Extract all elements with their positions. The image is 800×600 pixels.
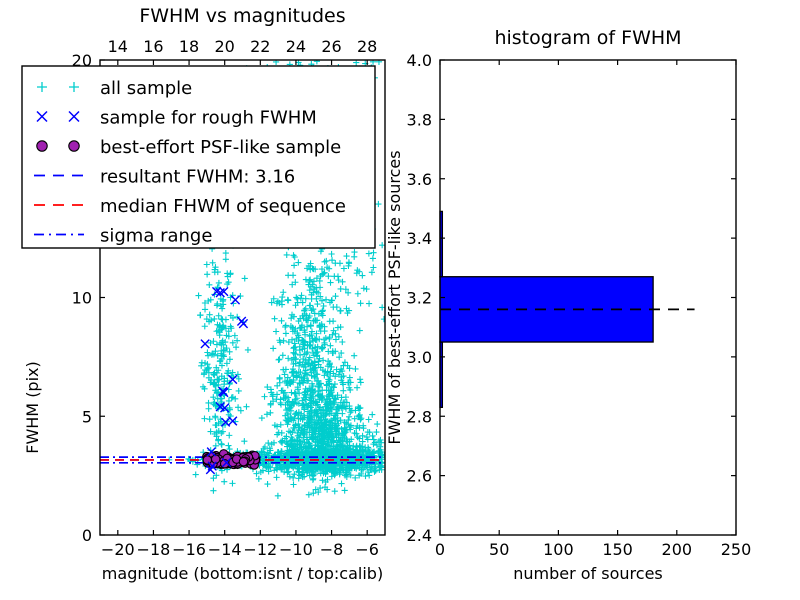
- marker-plus-icon: [285, 297, 291, 303]
- marker-plus-icon: [366, 301, 372, 307]
- marker-plus-icon: [351, 254, 357, 260]
- marker-plus-icon: [226, 398, 232, 404]
- marker-plus-icon: [221, 479, 227, 485]
- marker-plus-icon: [214, 302, 220, 308]
- scatter-ylabel: FWHM (pix): [23, 361, 42, 454]
- marker-plus-icon: [299, 398, 305, 404]
- marker-plus-icon: [357, 300, 363, 306]
- matplotlib-figure: −20−18−16−14−12−10−8−6141618202224262805…: [0, 0, 800, 600]
- marker-plus-icon: [340, 388, 346, 394]
- xtick-label: −18: [137, 540, 171, 559]
- top-xtick-label: 20: [215, 37, 235, 56]
- marker-plus-icon: [225, 442, 231, 448]
- legend-item-label: resultant FWHM: 3.16: [100, 167, 295, 188]
- marker-plus-icon: [346, 414, 352, 420]
- marker-plus-icon: [271, 316, 277, 322]
- xtick-label: −10: [279, 540, 313, 559]
- marker-plus-icon: [295, 259, 301, 265]
- hist-xtick-label: 150: [602, 540, 633, 559]
- marker-plus-icon: [284, 252, 290, 258]
- marker-plus-icon: [296, 475, 302, 481]
- marker-plus-icon: [238, 408, 244, 414]
- marker-plus-icon: [281, 338, 287, 344]
- marker-plus-icon: [219, 442, 225, 448]
- marker-plus-icon: [276, 376, 282, 382]
- ytick-label: 0: [82, 526, 92, 545]
- marker-plus-icon: [375, 201, 381, 207]
- marker-plus-icon: [328, 251, 334, 257]
- marker-plus-icon: [245, 347, 251, 353]
- marker-plus-icon: [205, 366, 211, 372]
- marker-plus-icon: [329, 257, 335, 263]
- marker-plus-icon: [357, 376, 363, 382]
- marker-plus-icon: [276, 356, 282, 362]
- top-xtick-label: 24: [286, 37, 306, 56]
- marker-plus-icon: [210, 260, 216, 266]
- marker-plus-icon: [282, 371, 288, 377]
- marker-plus-icon: [352, 366, 358, 372]
- marker-plus-icon: [243, 404, 249, 410]
- histogram-title: histogram of FWHM: [494, 27, 681, 49]
- marker-plus-icon: [204, 261, 210, 267]
- top-xtick-label: 26: [321, 37, 341, 56]
- marker-plus-icon: [323, 297, 329, 303]
- marker-plus-icon: [274, 474, 280, 480]
- marker-plus-icon: [320, 303, 326, 309]
- marker-plus-icon: [235, 404, 241, 410]
- marker-plus-icon: [327, 279, 333, 285]
- histogram-panel: 0501001502002502.42.62.83.03.23.43.63.84…: [385, 27, 751, 583]
- marker-plus-icon: [278, 439, 284, 445]
- marker-plus-icon: [369, 433, 375, 439]
- marker-plus-icon: [370, 255, 376, 261]
- marker-plus-icon: [321, 372, 327, 378]
- marker-plus-icon: [199, 360, 205, 366]
- scatter-xlabel: magnitude (bottom:isnt / top:calib): [102, 564, 383, 583]
- histogram-xlabel: number of sources: [513, 564, 663, 583]
- top-xtick-label: 22: [250, 37, 270, 56]
- marker-plus-icon: [290, 481, 296, 487]
- marker-plus-icon: [265, 440, 271, 446]
- figure-canvas: −20−18−16−14−12−10−8−6141618202224262805…: [0, 0, 800, 600]
- marker-plus-icon: [280, 352, 286, 358]
- marker-plus-icon: [213, 328, 219, 334]
- marker-plus-icon: [221, 381, 227, 387]
- marker-plus-icon: [270, 345, 276, 351]
- marker-plus-icon: [236, 376, 242, 382]
- hist-ytick-label: 2.8: [407, 407, 432, 426]
- marker-plus-icon: [211, 316, 217, 322]
- marker-plus-icon: [292, 390, 298, 396]
- marker-plus-icon: [207, 312, 213, 318]
- marker-plus-icon: [202, 323, 208, 329]
- xtick-label: −14: [208, 540, 242, 559]
- hist-ytick-label: 4.0: [407, 51, 432, 70]
- marker-plus-icon: [342, 487, 348, 493]
- marker-plus-icon: [358, 379, 364, 385]
- marker-plus-icon: [310, 472, 316, 478]
- legend-item-label: sample for rough FWHM: [100, 108, 317, 129]
- marker-plus-icon: [283, 330, 289, 336]
- marker-plus-icon: [338, 480, 344, 486]
- marker-plus-icon: [291, 262, 297, 268]
- legend: all samplesample for rough FWHMbest-effo…: [22, 66, 375, 248]
- circle-icon: [69, 141, 79, 151]
- hist-ytick-label: 3.2: [407, 289, 432, 308]
- legend-item-label: sigma range: [100, 226, 212, 247]
- marker-plus-icon: [205, 400, 211, 406]
- marker-plus-icon: [264, 481, 270, 487]
- marker-plus-icon: [369, 412, 375, 418]
- hist-ytick-label: 3.6: [407, 170, 432, 189]
- marker-plus-icon: [223, 250, 229, 256]
- marker-cross-icon: [231, 296, 239, 304]
- marker-plus-icon: [283, 322, 289, 328]
- marker-plus-icon: [210, 394, 216, 400]
- marker-plus-icon: [216, 280, 222, 286]
- marker-plus-icon: [357, 328, 363, 334]
- marker-circle-icon: [203, 456, 211, 464]
- marker-plus-icon: [285, 272, 291, 278]
- marker-plus-icon: [202, 306, 208, 312]
- marker-circle-icon: [239, 458, 247, 466]
- marker-plus-icon: [335, 273, 341, 279]
- marker-plus-icon: [327, 343, 333, 349]
- marker-plus-icon: [220, 429, 226, 435]
- marker-plus-icon: [233, 344, 239, 350]
- legend-item-label: best-effort PSF-like sample: [100, 137, 341, 158]
- xtick-label: −6: [355, 540, 379, 559]
- marker-plus-icon: [227, 356, 233, 362]
- legend-item-label: all sample: [100, 78, 192, 99]
- marker-plus-icon: [314, 58, 320, 64]
- marker-plus-icon: [204, 271, 210, 277]
- marker-plus-icon: [229, 395, 235, 401]
- marker-plus-icon: [264, 411, 270, 417]
- marker-plus-icon: [195, 292, 201, 298]
- marker-plus-icon: [351, 353, 357, 359]
- hist-xtick-label: 250: [721, 540, 752, 559]
- marker-plus-icon: [193, 471, 199, 477]
- marker-plus-icon: [280, 289, 286, 295]
- marker-plus-icon: [343, 253, 349, 259]
- marker-plus-icon: [354, 385, 360, 391]
- marker-plus-icon: [197, 312, 203, 318]
- ytick-label: 5: [82, 407, 92, 426]
- marker-plus-icon: [319, 477, 325, 483]
- marker-plus-icon: [290, 475, 296, 481]
- marker-plus-icon: [366, 472, 372, 478]
- marker-plus-icon: [259, 415, 265, 421]
- scatter-title: FWHM vs magnitudes: [139, 5, 345, 27]
- histogram-ylabel: FWHM of best-effort PSF-like sources: [385, 150, 404, 444]
- top-xtick-label: 16: [143, 37, 163, 56]
- legend-item-label: median FHWM of sequence: [100, 196, 346, 217]
- xtick-label: −20: [101, 540, 135, 559]
- marker-plus-icon: [387, 76, 393, 82]
- marker-plus-icon: [306, 492, 312, 498]
- marker-plus-icon: [236, 388, 242, 394]
- hist-xtick-label: 50: [489, 540, 509, 559]
- hist-ytick-label: 3.0: [407, 348, 432, 367]
- marker-plus-icon: [210, 475, 216, 481]
- hist-ytick-label: 2.6: [407, 467, 432, 486]
- marker-plus-icon: [285, 355, 291, 361]
- hist-ytick-label: 3.4: [407, 229, 432, 248]
- top-xtick-label: 14: [108, 37, 128, 56]
- marker-plus-icon: [370, 250, 376, 256]
- marker-plus-icon: [212, 413, 218, 419]
- marker-plus-icon: [377, 437, 383, 443]
- marker-plus-icon: [241, 438, 247, 444]
- marker-plus-icon: [334, 304, 340, 310]
- hist-xtick-label: 200: [662, 540, 693, 559]
- hist-xtick-label: 0: [435, 540, 445, 559]
- ytick-label: 10: [72, 289, 92, 308]
- marker-plus-icon: [359, 272, 365, 278]
- marker-plus-icon: [275, 493, 281, 499]
- marker-plus-icon: [206, 406, 212, 412]
- marker-plus-icon: [261, 394, 267, 400]
- marker-plus-icon: [282, 324, 288, 330]
- marker-plus-icon: [210, 488, 216, 494]
- circle-icon: [37, 141, 47, 151]
- marker-plus-icon: [369, 269, 375, 275]
- marker-plus-icon: [359, 433, 365, 439]
- xtick-label: −12: [243, 540, 277, 559]
- top-xtick-label: 18: [179, 37, 199, 56]
- marker-plus-icon: [277, 396, 283, 402]
- marker-plus-icon: [332, 260, 338, 266]
- marker-plus-icon: [363, 286, 369, 292]
- marker-plus-icon: [217, 332, 223, 338]
- marker-plus-icon: [223, 256, 229, 262]
- marker-plus-icon: [206, 282, 212, 288]
- marker-plus-icon: [361, 285, 367, 291]
- marker-plus-icon: [373, 429, 379, 435]
- marker-plus-icon: [314, 301, 320, 307]
- marker-plus-icon: [229, 480, 235, 486]
- marker-plus-icon: [327, 318, 333, 324]
- marker-plus-icon: [278, 318, 284, 324]
- marker-plus-icon: [374, 421, 380, 427]
- marker-plus-icon: [279, 430, 285, 436]
- xtick-label: −8: [320, 540, 344, 559]
- top-xtick-label: 28: [357, 37, 377, 56]
- marker-plus-icon: [275, 357, 281, 363]
- marker-cross-icon: [201, 340, 209, 348]
- marker-plus-icon: [332, 293, 338, 299]
- marker-plus-icon: [339, 339, 345, 345]
- marker-plus-icon: [300, 402, 306, 408]
- hist-ytick-label: 3.8: [407, 110, 432, 129]
- marker-plus-icon: [198, 363, 204, 369]
- marker-plus-icon: [267, 410, 273, 416]
- marker-plus-icon: [207, 416, 213, 422]
- hist-xtick-label: 100: [543, 540, 574, 559]
- marker-plus-icon: [355, 291, 361, 297]
- xtick-label: −16: [172, 540, 206, 559]
- hist-ytick-label: 2.4: [407, 526, 432, 545]
- marker-plus-icon: [366, 416, 372, 422]
- marker-plus-icon: [226, 432, 232, 438]
- marker-plus-icon: [332, 488, 338, 494]
- marker-plus-icon: [370, 264, 376, 270]
- marker-plus-icon: [273, 328, 279, 334]
- marker-plus-icon: [319, 345, 325, 351]
- marker-plus-icon: [366, 250, 372, 256]
- marker-plus-icon: [242, 275, 248, 281]
- marker-plus-icon: [338, 308, 344, 314]
